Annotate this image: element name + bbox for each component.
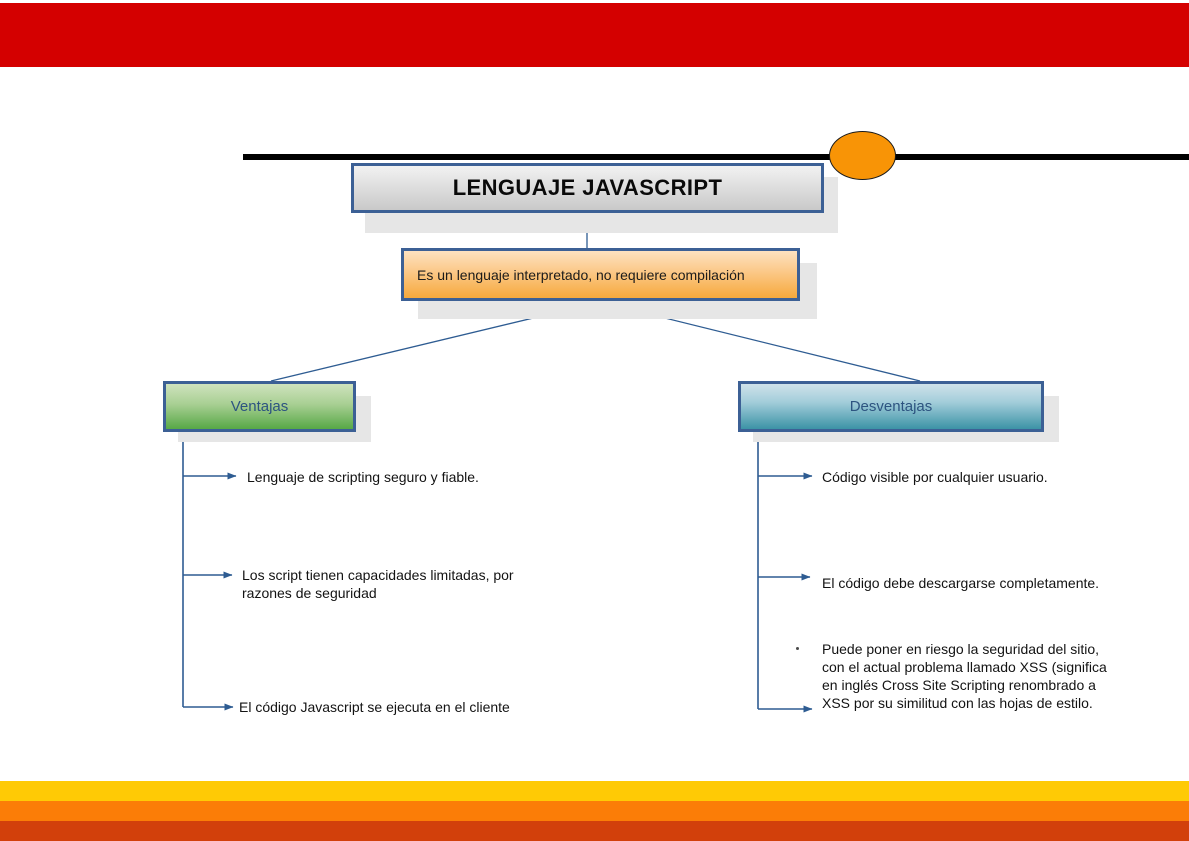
ventajas-item-3: El código Javascript se ejecuta en el cl… [239, 698, 579, 716]
ventajas-header-box[interactable]: Ventajas [163, 381, 356, 432]
desventajas-header-box[interactable]: Desventajas [738, 381, 1044, 432]
subtitle-box[interactable]: Es un lenguaje interpretado, no requiere… [401, 248, 800, 301]
desventajas-item-2: El código debe descargarse completamente… [822, 574, 1152, 592]
ventajas-item-1: Lenguaje de scripting seguro y fiable. [247, 468, 577, 486]
subtitle-label: Es un lenguaje interpretado, no requiere… [404, 267, 745, 283]
desventajas-item-3-bullet-icon [796, 647, 799, 650]
slide-canvas: LENGUAJE JAVASCRIPT Es un lenguaje inter… [0, 0, 1189, 841]
title-label: LENGUAJE JAVASCRIPT [453, 175, 723, 201]
desventajas-label: Desventajas [850, 398, 933, 415]
title-box[interactable]: LENGUAJE JAVASCRIPT [351, 163, 824, 213]
ventajas-label: Ventajas [231, 398, 289, 415]
desventajas-item-1: Código visible por cualquier usuario. [822, 468, 1142, 486]
desventajas-item-3: Puede poner en riesgo la seguridad del s… [822, 640, 1122, 712]
ventajas-item-2: Los script tienen capacidades limitadas,… [242, 566, 562, 602]
